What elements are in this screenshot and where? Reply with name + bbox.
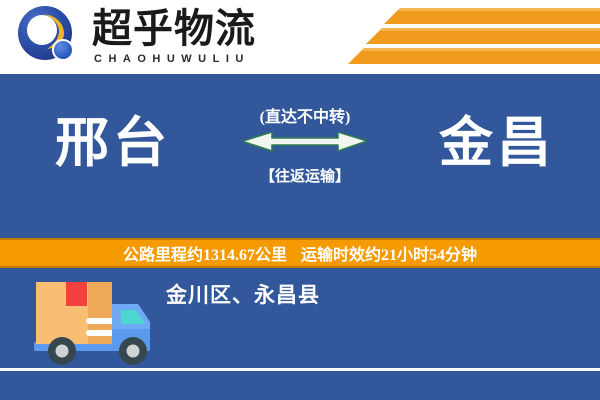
duration-text: 运输时效约21小时54分钟 <box>301 241 477 265</box>
logo-accent-dot <box>52 39 74 61</box>
logistics-route-banner: 超乎物流 CHAOHUWULIU 邢台 (直达不中转) <box>0 0 600 400</box>
brand-text: 超乎物流 CHAOHUWULIU <box>92 9 256 66</box>
route-arrow-group: (直达不中转) 【往返运输】 <box>230 108 380 212</box>
origin-city: 邢台 <box>55 110 171 176</box>
distance-text: 公路里程约1314.67公里 <box>123 241 287 265</box>
orange-speed-stripes-icon <box>330 6 600 68</box>
double-headed-arrow-icon <box>243 132 367 162</box>
brand-name-en: CHAOHUWULIU <box>94 52 256 66</box>
header: 超乎物流 CHAOHUWULIU <box>0 0 600 74</box>
bottom-divider <box>0 368 600 371</box>
brand-name-cn: 超乎物流 <box>92 9 256 49</box>
route-note-roundtrip: 【往返运输】 <box>260 168 350 187</box>
delivery-truck-icon <box>28 274 160 370</box>
route-note-direct: (直达不中转) <box>260 108 351 128</box>
circle-crescent-logo-icon <box>18 6 80 68</box>
brand-logo[interactable]: 超乎物流 CHAOHUWULIU <box>18 4 256 70</box>
route-info-bar: 公路里程约1314.67公里 运输时效约21小时54分钟 <box>0 238 600 268</box>
route-panel: 邢台 (直达不中转) 【往返运输】 金昌 <box>0 74 600 238</box>
coverage-panel: 金川区、永昌县 <box>0 268 600 400</box>
destination-city: 金昌 <box>439 110 555 176</box>
coverage-areas-text: 金川区、永昌县 <box>166 281 320 309</box>
